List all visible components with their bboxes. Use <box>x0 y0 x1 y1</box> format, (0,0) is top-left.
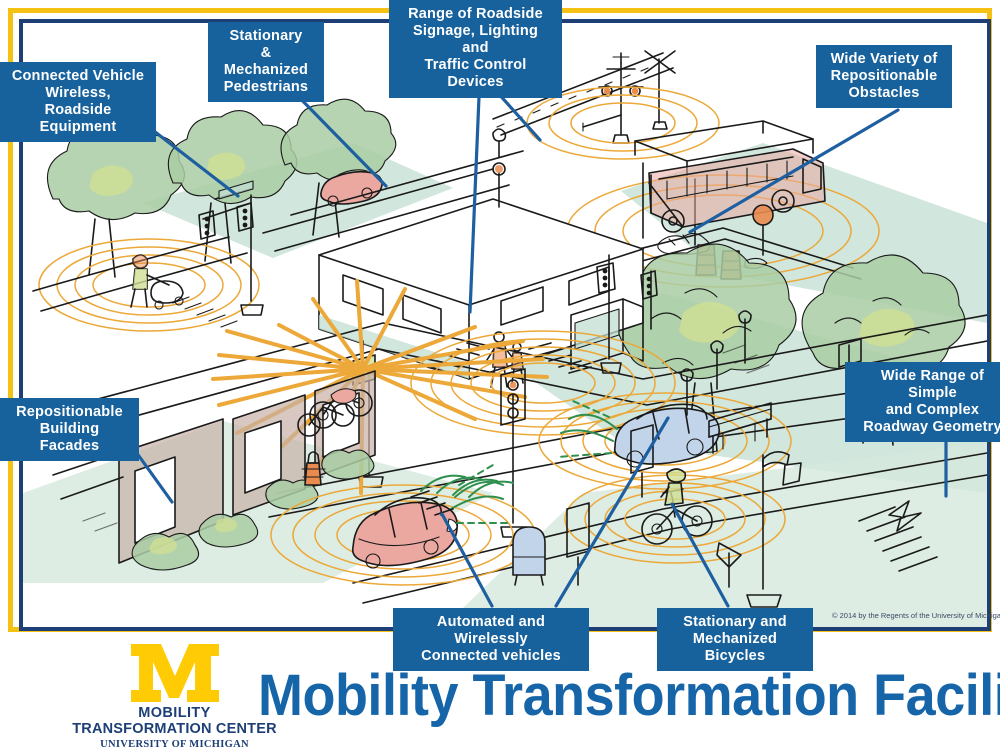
callout-obstacles[interactable]: Wide Variety of Repositionable Obstacles <box>816 45 952 108</box>
logo-line-tc: TRANSFORMATION CENTER <box>62 721 287 737</box>
callout-signage[interactable]: Range of Roadside Signage, Lighting and … <box>389 0 562 98</box>
callout-automated-vehicles[interactable]: Automated and Wirelessly Connected vehic… <box>393 608 589 671</box>
callout-bicycles[interactable]: Stationary and Mechanized Bicycles <box>657 608 813 671</box>
logo-line-university: UNIVERSITY OF MICHIGAN <box>62 739 287 750</box>
callout-roadway-geometry[interactable]: Wide Range of Simple and Complex Roadway… <box>845 362 1000 442</box>
illustration-scene: .ink{fill:none;stroke:#1a1a1a;stroke-wid… <box>23 23 987 627</box>
callout-building-facades[interactable]: Repositionable Building Facades <box>0 398 139 461</box>
block-m-logo <box>127 642 223 704</box>
callout-pedestrians[interactable]: Stationary & Mechanized Pedestrians <box>208 22 324 102</box>
callout-connected-vehicle[interactable]: Connected Vehicle Wireless, Roadside Equ… <box>0 62 156 142</box>
poster-canvas: .ink{fill:none;stroke:#1a1a1a;stroke-wid… <box>0 0 1000 750</box>
copyright-notice: © 2014 by the Regents of the University … <box>832 611 1000 620</box>
page-title: Mobility Transformation Facility <box>258 656 937 736</box>
mtc-logo: MOBILITY TRANSFORMATION CENTER UNIVERSIT… <box>62 642 287 750</box>
logo-line-mobility: MOBILITY <box>62 705 287 721</box>
